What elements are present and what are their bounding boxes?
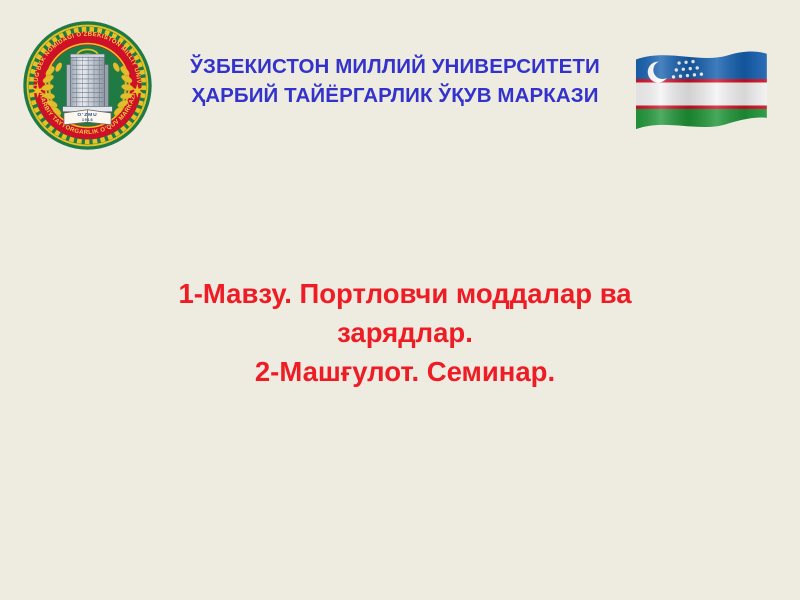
- emblem-open-book: O'ZMU 1918: [64, 110, 111, 125]
- header-title-line-1: ЎЗБЕКИСТОН МИЛЛИЙ УНИВЕРСИТЕТИ: [170, 52, 620, 81]
- main-title-line-3: 2-Машғулот. Семинар.: [100, 352, 710, 391]
- header-title-block: ЎЗБЕКИСТОН МИЛЛИЙ УНИВЕРСИТЕТИ ҲАРБИЙ ТА…: [170, 52, 620, 110]
- university-emblem: MIRZO ULUG'BEK NOMIDAGI O'ZBEKISTON MILL…: [22, 20, 153, 151]
- header-title-line-2: ҲАРБИЙ ТАЙЁРГАРЛИК ЎҚУВ МАРКАЗИ: [170, 81, 620, 110]
- main-title-line-2: зарядлар.: [100, 313, 710, 352]
- slide-header: MIRZO ULUG'BEK NOMIDAGI O'ZBEKISTON MILL…: [0, 0, 800, 170]
- main-title-line-1: 1-Мавзу. Портловчи моддалар ва: [100, 274, 710, 313]
- slide-main-title: 1-Мавзу. Портловчи моддалар ва зарядлар.…: [100, 274, 710, 391]
- presentation-slide: MIRZO ULUG'BEK NOMIDAGI O'ZBEKISTON MILL…: [0, 0, 800, 600]
- uzbekistan-flag: [630, 40, 770, 148]
- emblem-book-year: 1918: [82, 117, 93, 122]
